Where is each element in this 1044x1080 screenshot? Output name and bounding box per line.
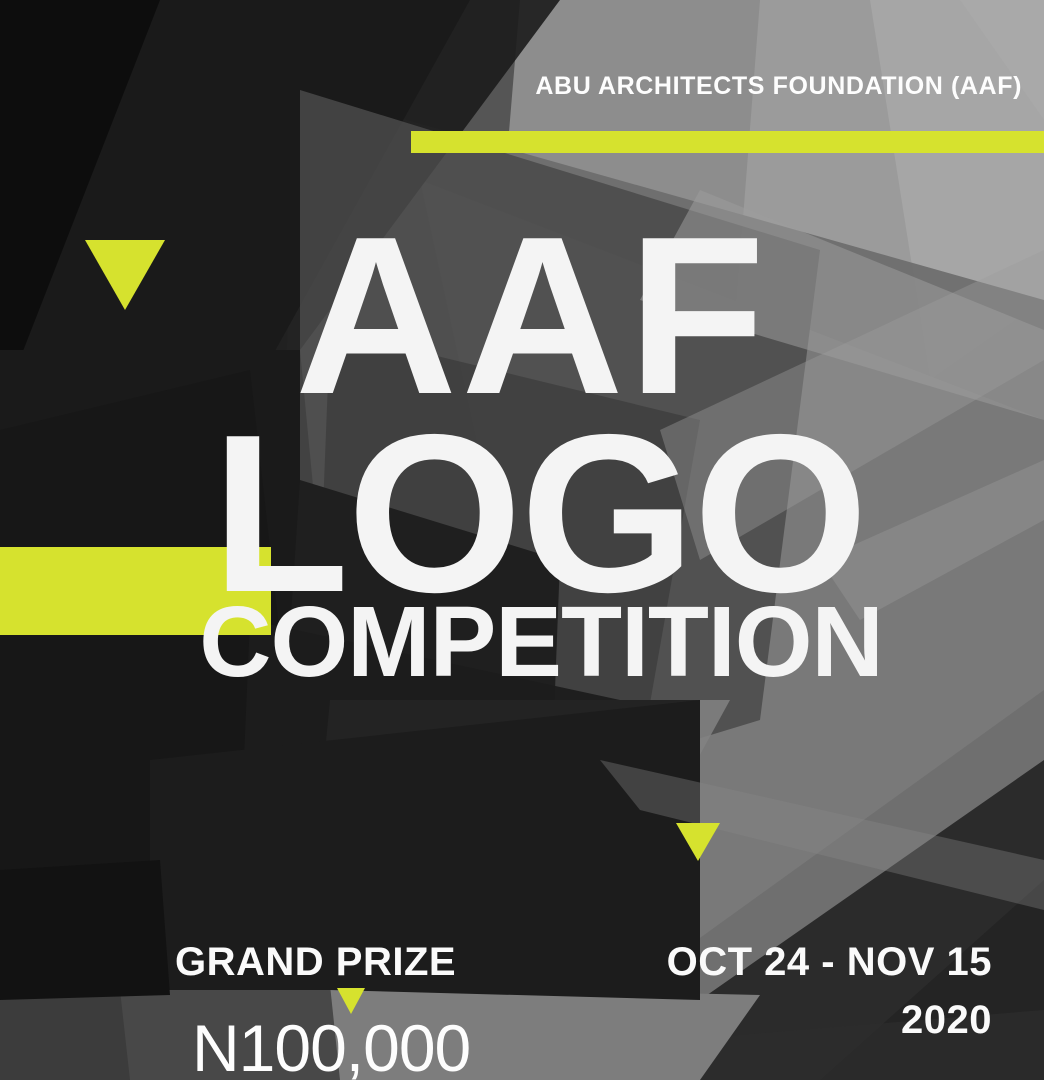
- title-line-logo: LOGO: [0, 414, 1044, 612]
- prize-label: GRAND PRIZE: [175, 940, 456, 985]
- organization-name: ABU ARCHITECTS FOUNDATION (AAF): [535, 72, 1022, 101]
- year: 2020: [901, 998, 992, 1043]
- poster-canvas: ABU ARCHITECTS FOUNDATION (AAF) AAF LOGO…: [0, 0, 1044, 1080]
- date-range: OCT 24 - NOV 15: [667, 940, 992, 985]
- title-line-aaf: AAF: [0, 216, 1044, 414]
- page-title: AAF LOGO COMPETITION: [0, 216, 1044, 686]
- accent-bar-icon: [411, 131, 1044, 153]
- prize-amount: N100,000: [192, 1010, 470, 1080]
- triangle-down-icon: [676, 823, 720, 861]
- title-line-competition: COMPETITION: [0, 598, 1044, 686]
